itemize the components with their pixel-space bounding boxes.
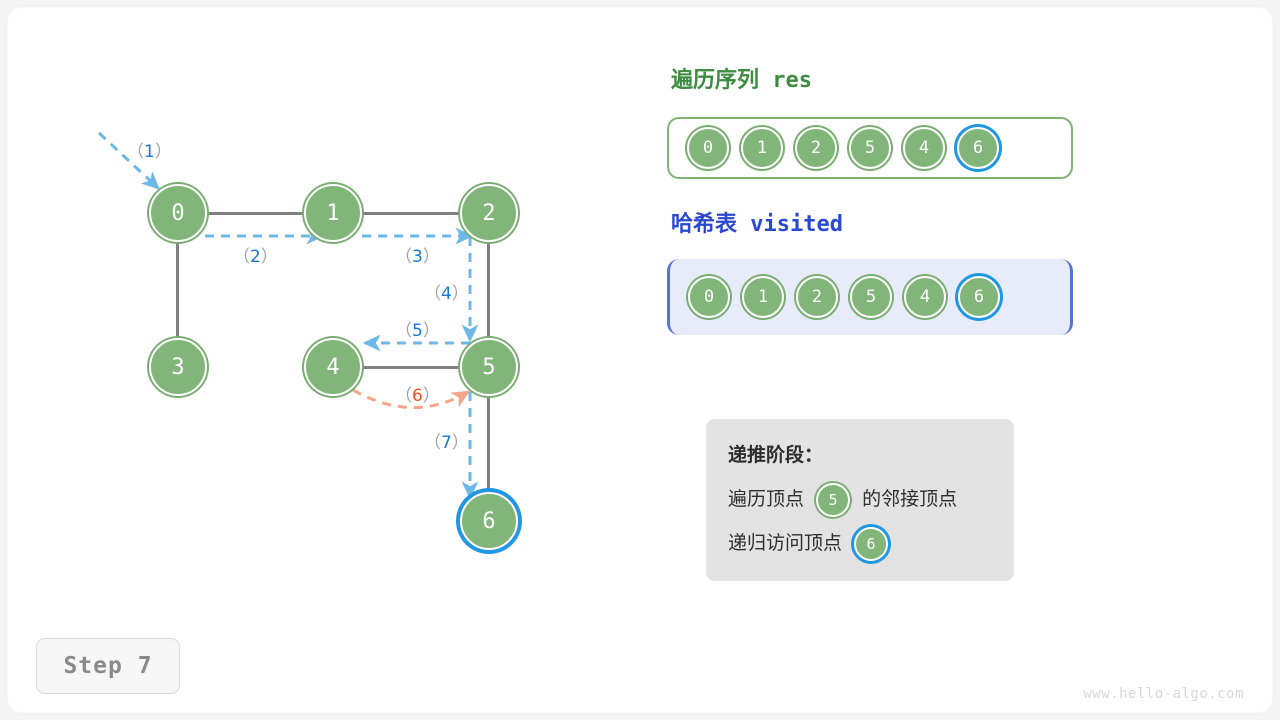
phase-line-1: 遍历顶点 5 的邻接顶点	[728, 477, 1014, 521]
graph-node-6[interactable]: 6	[460, 492, 518, 550]
traversal-label-6: （6）	[395, 381, 440, 406]
phase-line-1-node: 5	[816, 483, 850, 517]
edge-0-1	[207, 212, 304, 215]
res-item-0[interactable]: 0	[687, 127, 729, 169]
visited-item-1[interactable]: 1	[742, 276, 784, 318]
visited-item-5[interactable]: 6	[958, 276, 1000, 318]
phase-line-1-suffix: 的邻接顶点	[862, 488, 957, 510]
edge-0-3	[176, 242, 179, 338]
graph-node-0[interactable]: 0	[149, 184, 207, 242]
traversal-label-4-number: 4	[441, 284, 452, 304]
traversal-label-6-number: 6	[412, 386, 423, 406]
res-item-3[interactable]: 5	[849, 127, 891, 169]
phase-heading: 递推阶段：	[728, 439, 1014, 471]
traversal-label-2: （2）	[233, 242, 278, 267]
traversal-label-1: （1）	[127, 137, 172, 162]
phase-line-2-node: 6	[854, 527, 888, 561]
graph-node-4[interactable]: 4	[304, 338, 362, 396]
traversal-label-7: （7）	[424, 428, 469, 453]
phase-line-2-prefix: 递归访问顶点	[728, 532, 842, 554]
phase-line-2: 递归访问顶点 6	[728, 521, 1014, 565]
graph-node-2[interactable]: 2	[460, 184, 518, 242]
traversal-label-3: （3）	[395, 242, 440, 267]
phase-line-1-prefix: 遍历顶点	[728, 488, 804, 510]
traversal-label-4: （4）	[424, 279, 469, 304]
traversal-label-5: （5）	[395, 316, 440, 341]
visited-title: 哈希表 visited	[671, 206, 843, 238]
traversal-label-5-number: 5	[412, 321, 423, 341]
watermark: www.hello-algo.com	[1083, 686, 1244, 702]
traversal-label-7-number: 7	[441, 433, 452, 453]
res-item-5[interactable]: 6	[957, 127, 999, 169]
graph-node-1[interactable]: 1	[304, 184, 362, 242]
traversal-label-1-number: 1	[144, 142, 155, 162]
res-item-4[interactable]: 4	[903, 127, 945, 169]
step-badge: Step 7	[36, 638, 180, 694]
visited-item-4[interactable]: 4	[904, 276, 946, 318]
res-sequence-box: 0 1 2 5 4 6	[667, 117, 1073, 179]
graph-node-5[interactable]: 5	[460, 338, 518, 396]
edge-4-5	[362, 366, 460, 369]
edge-5-6	[487, 396, 490, 492]
res-title: 遍历序列 res	[671, 62, 812, 94]
visited-item-3[interactable]: 5	[850, 276, 892, 318]
phase-info-box: 递推阶段： 遍历顶点 5 的邻接顶点 递归访问顶点 6	[706, 419, 1014, 581]
edge-2-5	[487, 242, 490, 338]
res-item-1[interactable]: 1	[741, 127, 783, 169]
illustration-canvas: 0 1 2 3 4 5 6 （1） （2） （3） （4） （5） （6） （7…	[0, 0, 1280, 720]
traversal-label-2-number: 2	[250, 247, 261, 267]
res-item-2[interactable]: 2	[795, 127, 837, 169]
visited-item-0[interactable]: 0	[688, 276, 730, 318]
edge-1-2	[362, 212, 460, 215]
traversal-label-3-number: 3	[412, 247, 423, 267]
graph-node-3[interactable]: 3	[149, 338, 207, 396]
visited-item-2[interactable]: 2	[796, 276, 838, 318]
visited-hashmap-box: 0 1 2 5 4 6	[667, 259, 1073, 335]
